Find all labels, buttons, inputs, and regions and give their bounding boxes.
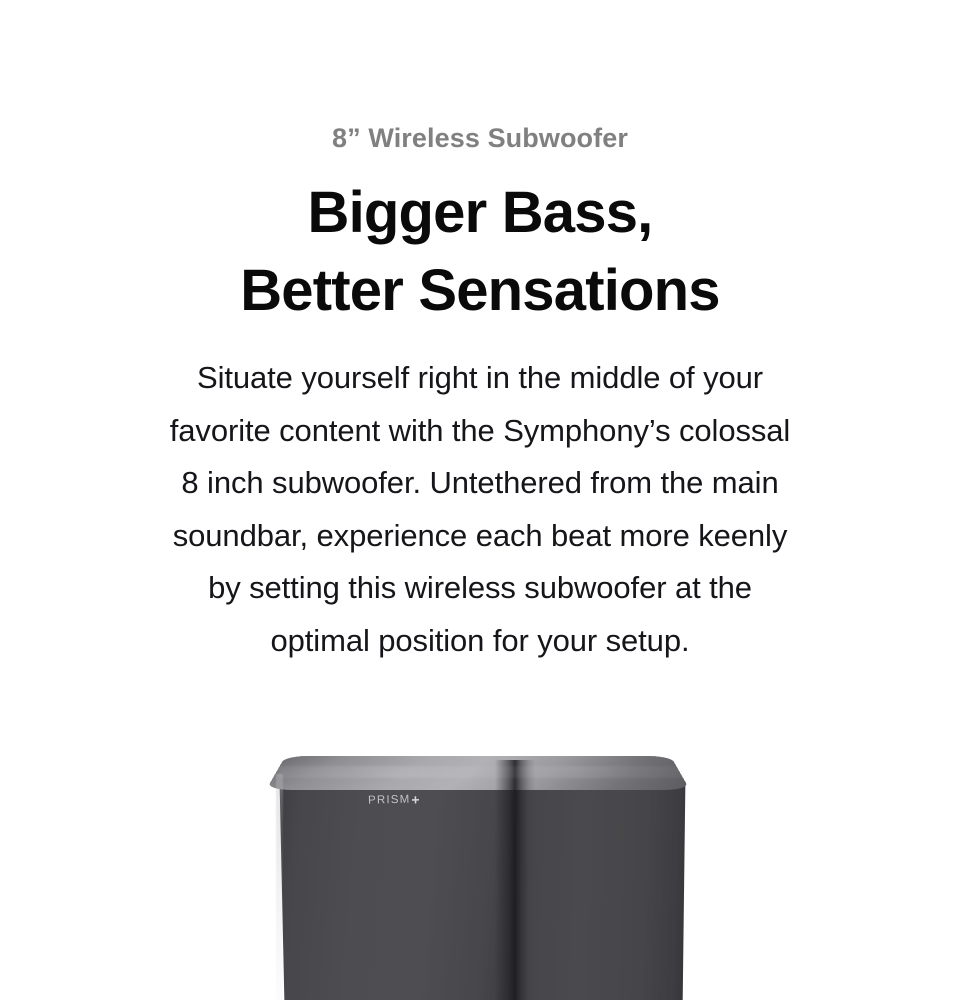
body-line-4: soundbar, experience each beat more keen… (85, 510, 875, 563)
plus-icon: + (411, 793, 419, 805)
body-line-5: by setting this wireless subwoofer at th… (85, 562, 875, 615)
headline-line-2: Better Sensations (0, 252, 960, 330)
eyebrow-label: 8” Wireless Subwoofer (0, 0, 960, 158)
subwoofer-corner-edge (495, 760, 535, 1000)
subwoofer-product-image: PRISM + (262, 690, 702, 1000)
body-line-2: favorite content with the Symphony’s col… (85, 405, 875, 458)
body-line-3: 8 inch subwoofer. Untethered from the ma… (85, 457, 875, 510)
body-paragraph: Situate yourself right in the middle of … (85, 330, 875, 667)
subwoofer-top-face (266, 756, 690, 790)
headline-line-1: Bigger Bass, (0, 174, 960, 252)
prism-plus-logo: PRISM + (368, 793, 420, 806)
page-title: Bigger Bass, Better Sensations (0, 158, 960, 330)
product-feature-section: 8” Wireless Subwoofer Bigger Bass, Bette… (0, 0, 960, 1000)
body-line-6: optimal position for your setup. (85, 615, 875, 668)
product-image-stage: PRISM + (0, 690, 960, 1000)
brand-wordmark: PRISM (368, 794, 411, 807)
copy-block: 8” Wireless Subwoofer Bigger Bass, Bette… (0, 0, 960, 667)
subwoofer-side-face (511, 762, 688, 1000)
body-line-1: Situate yourself right in the middle of … (85, 352, 875, 405)
